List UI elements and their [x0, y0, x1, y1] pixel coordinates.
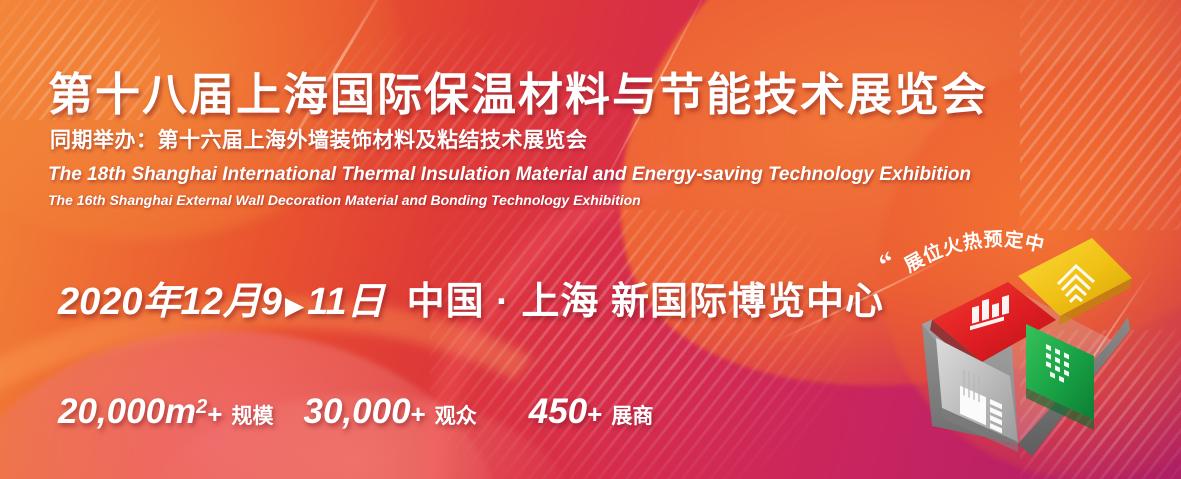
date-end: 11日	[307, 270, 384, 325]
exhibition-banner: 第十八届上海国际保温材料与节能技术展览会 同期举办：第十六届上海外墙装饰材料及粘…	[0, 0, 1181, 479]
stat-visitors-plus: +	[411, 399, 426, 430]
stat-area-superscript: 2	[196, 396, 207, 419]
banner-content: 第十八届上海国际保温材料与节能技术展览会 同期举办：第十六届上海外墙装饰材料及粘…	[0, 0, 1181, 479]
stat-visitors-label: 观众	[435, 400, 477, 430]
curved-text-label: 展位火热预定中	[901, 228, 1048, 277]
stat-exhibitors-label: 展商	[611, 400, 653, 430]
stat-area-number: 20,000m	[58, 392, 196, 432]
venue-name: 中国 · 上海 新国际博览中心	[407, 270, 884, 325]
page-title: 第十八届上海国际保温材料与节能技术展览会	[48, 58, 988, 123]
date-venue-bar: 2020年12月9 ▶ 11日 中国 · 上海 新国际博览中心	[58, 270, 884, 325]
stat-exhibitors-number: 450	[529, 392, 587, 432]
stat-item-area: 20,000m 2 + 规模	[58, 392, 273, 432]
stat-area-plus: +	[207, 399, 222, 430]
date-range-arrow-icon: ▶	[282, 291, 307, 321]
concurrent-event-title: 同期举办：第十六届上海外墙装饰材料及粘结技术展览会	[50, 124, 588, 154]
english-title-primary: The 18th Shanghai International Thermal …	[48, 164, 971, 186]
stat-item-visitors: 30,000 + 观众	[303, 392, 476, 432]
stat-area-label: 规模	[231, 400, 273, 430]
english-title-secondary: The 16th Shanghai External Wall Decorati…	[48, 192, 641, 208]
stat-item-exhibitors: 450 + 展商	[529, 392, 654, 432]
date-start: 2020年12月9	[58, 270, 282, 325]
stat-visitors-number: 30,000	[303, 392, 410, 432]
stat-exhibitors-plus: +	[587, 399, 602, 430]
statistics-row: 20,000m 2 + 规模 30,000 + 观众 450 + 展商	[58, 392, 653, 432]
booth-tiles-graphic: “ 展位火热预定中 ”	[880, 212, 1170, 462]
